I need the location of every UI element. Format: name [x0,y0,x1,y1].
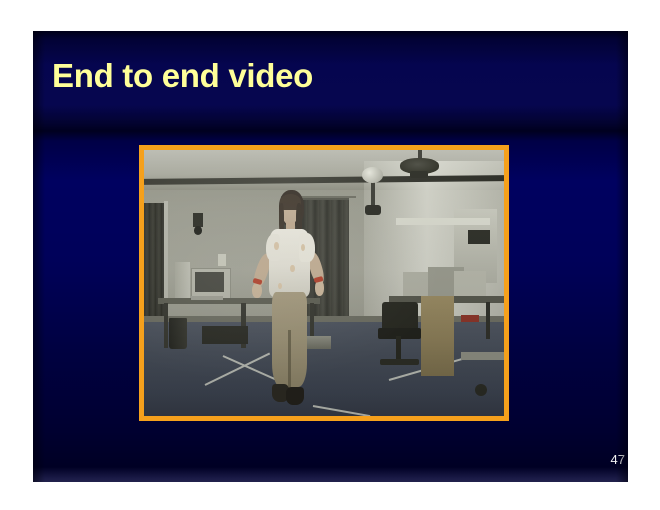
red-equipment-item [461,315,479,322]
wooden-panel [421,296,453,376]
desk-leg [486,302,490,339]
mocap-marker [278,283,282,290]
wall-plate [218,254,226,266]
office-chair-base [380,359,420,365]
video-frame-image [144,150,504,416]
far-right-table [461,352,504,360]
presentation-slide: End to end video [33,31,628,482]
crt-monitor-screen [195,272,224,292]
video-frame-container[interactable] [139,145,509,421]
slide-page-number: 47 [599,452,625,468]
office-chair-post [396,336,401,360]
person-left-hand [252,283,261,299]
person-right-shoe [286,387,304,405]
mocap-marker [290,265,295,273]
door-header-trim [396,218,490,225]
keyboard [191,296,223,300]
camera-two-bracket [410,171,428,178]
trash-can [169,318,187,350]
person-leg-separation [288,330,291,389]
wall-camera-three [193,213,204,228]
slide-title: End to end video [52,56,592,96]
wall-mounted-dark-box [468,230,490,245]
person-right-hand [315,280,324,296]
desk-leg [164,303,168,348]
ceiling-camera-one [365,205,382,216]
computer-tower [175,262,190,299]
wall-camera-three-lens [194,226,203,235]
left-curtain [144,203,166,323]
mocap-marker [274,242,279,250]
office-chair-back [382,302,418,331]
equipment-box [454,271,486,298]
person-figure [241,190,335,416]
